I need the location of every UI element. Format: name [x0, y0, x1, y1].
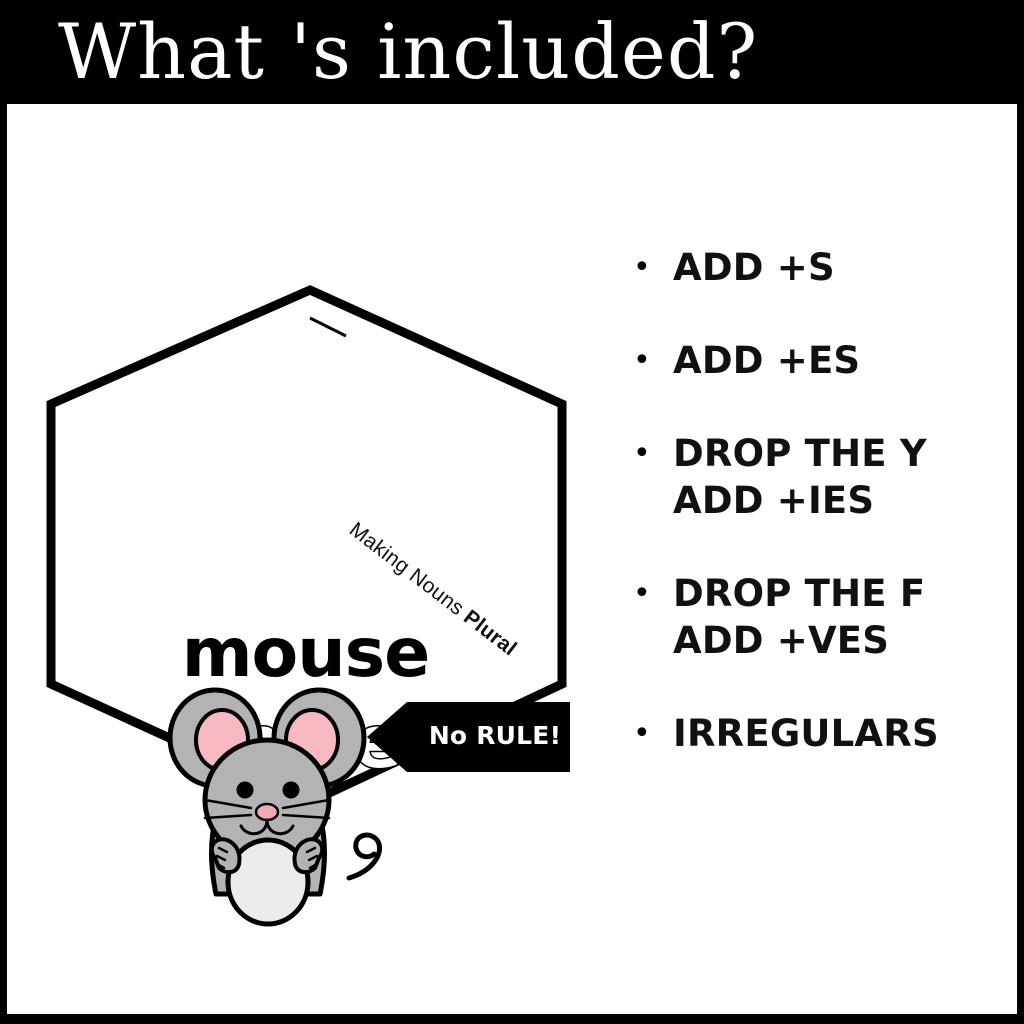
bullet-icon: •	[625, 337, 673, 384]
list-item: • ADD +S	[625, 244, 995, 291]
page-title: What 's included?	[58, 4, 758, 100]
bullet-icon: •	[625, 430, 673, 477]
list-item: • IRREGULARS	[625, 710, 995, 757]
features-list: • ADD +S • ADD +ES • DROP THE Y ADD +IES…	[625, 244, 995, 803]
list-item-label: ADD +ES	[673, 337, 995, 384]
header-band: What 's included?	[0, 0, 1024, 104]
poster-canvas: What 's included? Making Nouns Plural mo…	[0, 0, 1024, 1024]
mouse-illustration	[153, 682, 403, 932]
list-item-label: DROP THE Y ADD +IES	[673, 430, 995, 524]
hexagon-card[interactable]: Making Nouns Plural mouse mice	[43, 284, 568, 809]
bullet-icon: •	[625, 710, 673, 757]
list-item-label: DROP THE F ADD +VES	[673, 570, 995, 664]
bullet-icon: •	[625, 244, 673, 291]
list-item: • ADD +ES	[625, 337, 995, 384]
bullet-icon: •	[625, 570, 673, 617]
list-item: • DROP THE F ADD +VES	[625, 570, 995, 664]
list-item-label: ADD +S	[673, 244, 995, 291]
list-item-label: IRREGULARS	[673, 710, 995, 757]
singular-word: mouse	[43, 620, 568, 688]
no-rule-banner: No RULE!	[367, 696, 570, 778]
content-panel: Making Nouns Plural mouse mice	[7, 104, 1017, 1014]
list-item: • DROP THE Y ADD +IES	[625, 430, 995, 524]
no-rule-banner-label: No RULE!	[425, 721, 565, 751]
